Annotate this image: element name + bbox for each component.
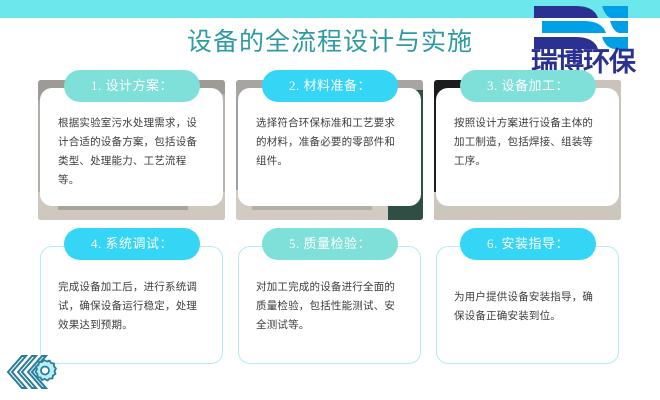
card-body-2: 选择符合环保标准和工艺要求的材料，准备必要的零部件和组件。 <box>256 114 404 171</box>
card-title-2: 2. 材料准备： <box>289 78 371 93</box>
page-title: 设备的全流程设计与实施 <box>0 22 660 58</box>
card-body-5: 对加工完成的设备进行全面的质量检验，包括性能测试、安全测试等。 <box>256 278 404 335</box>
card-title-pill-2: 2. 材料准备： <box>262 70 398 102</box>
card-title-3: 3. 设备加工： <box>487 78 569 93</box>
slide-canvas: 瑞博环保 设备的全流程设计与实施 1. 设计方案： 根据实验室污水处理需求，设计… <box>0 0 660 400</box>
card-title-6: 6. 安装指导： <box>487 236 569 251</box>
card-title-pill-1: 1. 设计方案： <box>64 70 200 102</box>
card-title-pill-4: 4. 系统调试： <box>64 228 200 260</box>
card-title-1: 1. 设计方案： <box>91 78 173 93</box>
card-body-3: 按照设计方案进行设备主体的加工制造，包括焊接、组装等工序。 <box>454 114 602 171</box>
card-title-pill-5: 5. 质量检验： <box>262 228 398 260</box>
card-body-6: 为用户提供设备安装指导，确保设备正确安装到位。 <box>454 288 602 326</box>
card-title-pill-6: 6. 安装指导： <box>460 228 596 260</box>
gear-chevrons-icon <box>4 348 66 396</box>
card-title-5: 5. 质量检验： <box>289 236 371 251</box>
card-title-pill-3: 3. 设备加工： <box>460 70 596 102</box>
card-body-4: 完成设备加工后，进行系统调试，确保设备运行稳定，处理效果达到预期。 <box>58 278 206 335</box>
card-title-4: 4. 系统调试： <box>91 236 173 251</box>
card-body-1: 根据实验室污水处理需求，设计合适的设备方案，包括设备类型、处理能力、工艺流程等。 <box>58 114 206 190</box>
